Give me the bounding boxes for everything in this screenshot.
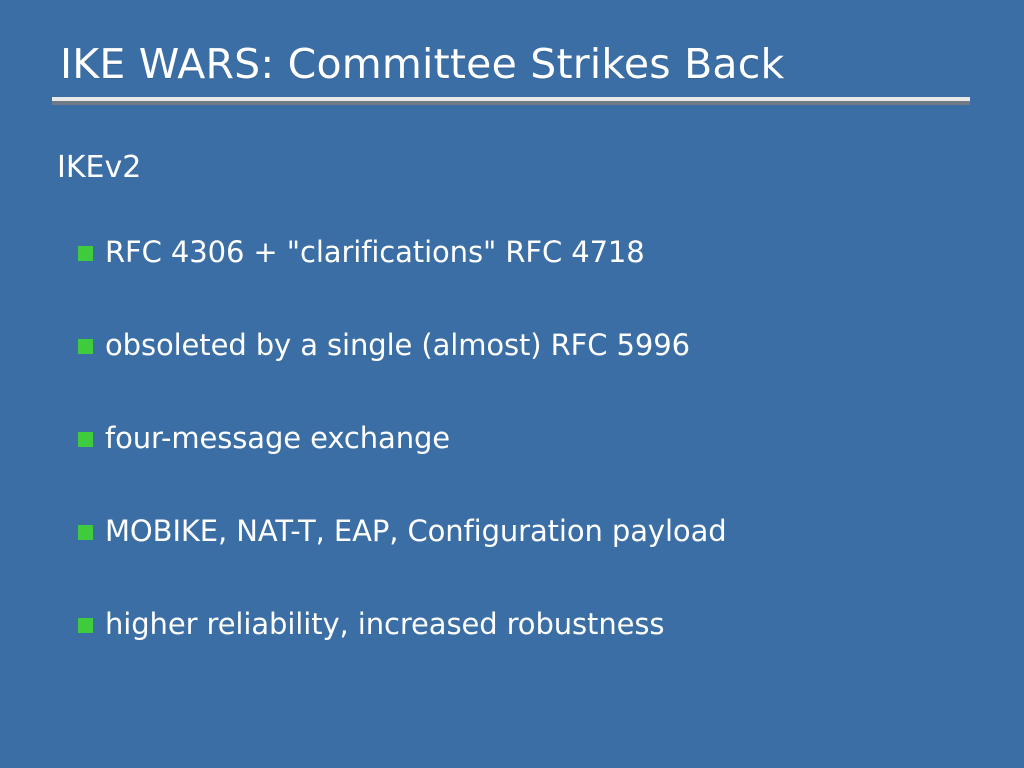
list-item-label: four-message exchange: [105, 418, 450, 458]
square-bullet-icon: [78, 432, 93, 447]
title-underline-rule: [52, 97, 970, 105]
list-item: four-message exchange: [78, 418, 1024, 511]
list-item-label: obsoleted by a single (almost) RFC 5996: [105, 325, 690, 365]
presentation-slide: IKE WARS: Committee Strikes Back IKEv2 R…: [0, 0, 1024, 768]
square-bullet-icon: [78, 339, 93, 354]
square-bullet-icon: [78, 618, 93, 633]
square-bullet-icon: [78, 525, 93, 540]
title-block: IKE WARS: Committee Strikes Back: [60, 38, 972, 90]
page-title: IKE WARS: Committee Strikes Back: [60, 38, 972, 90]
bullet-list: RFC 4306 + "clarifications" RFC 4718 obs…: [0, 232, 1024, 697]
square-bullet-icon: [78, 246, 93, 261]
body-level1-heading: IKEv2: [57, 148, 1024, 188]
list-item-label: MOBIKE, NAT-T, EAP, Configuration payloa…: [105, 511, 727, 551]
list-item-label: RFC 4306 + "clarifications" RFC 4718: [105, 232, 645, 272]
list-item-label: higher reliability, increased robustness: [105, 604, 664, 644]
slide-body: IKEv2 RFC 4306 + "clarifications" RFC 47…: [0, 148, 1024, 697]
title-rule-shadow: [52, 101, 970, 105]
list-item: obsoleted by a single (almost) RFC 5996: [78, 325, 1024, 418]
list-item: MOBIKE, NAT-T, EAP, Configuration payloa…: [78, 511, 1024, 604]
list-item: higher reliability, increased robustness: [78, 604, 1024, 697]
list-item: RFC 4306 + "clarifications" RFC 4718: [78, 232, 1024, 325]
